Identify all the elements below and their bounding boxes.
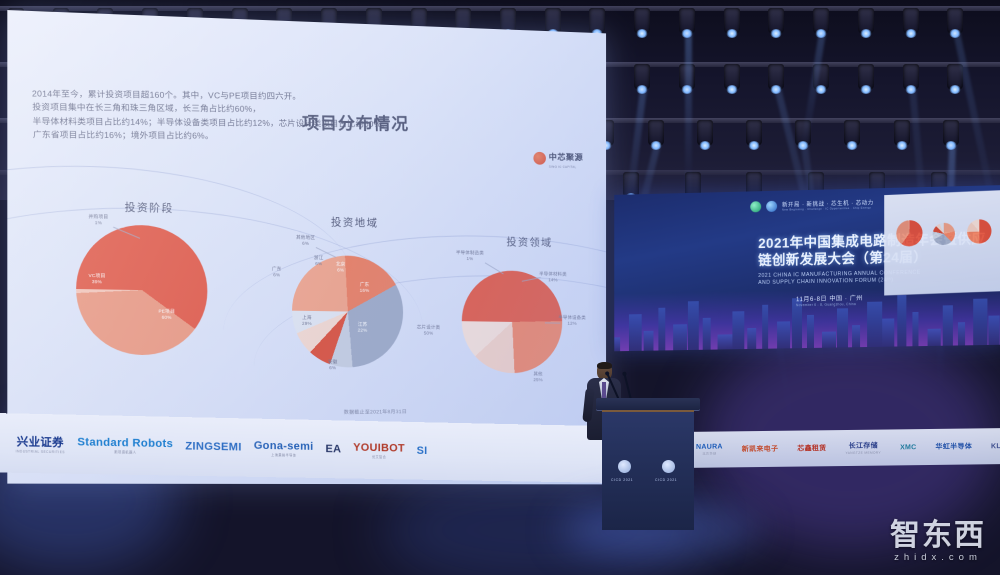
chart-3-label-top-left: 半导体制造类1%: [456, 250, 484, 262]
sponsor-logo-name: 新凯来电子: [742, 444, 779, 454]
chart-3-label-3: 半导体设备类12%: [558, 315, 585, 327]
sponsor-logo: ZINGSEMI: [185, 440, 241, 453]
podium-label-right: CICD 2021: [655, 478, 677, 482]
stage-scene: 2014年至今，累计投资项目超160个。其中，VC与PE项目约四六开。 投资项目…: [0, 0, 1000, 575]
sponsor-logo-name: EA: [325, 443, 341, 455]
sponsor-logo-sub: 北方华创: [702, 451, 716, 456]
led-building: [943, 305, 953, 345]
led-building: [673, 324, 687, 350]
sponsor-logo-band-right: NAURA北方华创新凯来电子芯鑫租赁长江存储YANGTZE MEMORYXMC华…: [690, 428, 1000, 468]
corp-logo-mark-icon: [533, 151, 546, 164]
stage-lamp: [648, 120, 664, 146]
stage-lamp: [813, 64, 829, 90]
sponsor-logo: SI: [417, 445, 428, 457]
stage-lamp: [589, 8, 605, 34]
sponsor-logo-name: 芯鑫租赁: [797, 443, 826, 453]
podium-emblem-left-icon: [618, 460, 631, 473]
projected-slide: 2014年至今，累计投资项目超160个。其中，VC与PE项目约四六开。 投资项目…: [7, 10, 606, 484]
stage-lamp: [679, 8, 695, 34]
podium-emblem-right-icon: [662, 460, 675, 473]
sponsor-logo-sub: 优艾智合: [372, 453, 386, 458]
led-mini-pie-2: [933, 222, 955, 245]
sponsor-logo-name: Standard Robots: [77, 436, 173, 450]
sponsor-logo: NAURA北方华创: [696, 443, 723, 455]
sponsor-logo: KL: [991, 443, 1000, 450]
zhidx-watermark: 智东西 zhidx.com: [890, 521, 986, 563]
sponsor-logo-sub: INDUSTRIAL SECURITIES: [16, 449, 65, 454]
led-taglines: 新开局 · 新挑战 · 芯生机 · 芯动力 New Beginning · Ch…: [750, 198, 874, 212]
podium-label-left: CICD 2021: [611, 478, 633, 482]
sponsor-logo: XMC: [900, 444, 916, 451]
chart-3-leader-0: [485, 262, 504, 274]
led-building: [658, 308, 665, 351]
led-building: [629, 314, 642, 351]
sponsor-logo: 兴业证券INDUSTRIAL SECURITIES: [16, 433, 65, 454]
led-building: [837, 308, 848, 347]
chart-2-label-0: 江苏22%: [358, 322, 368, 334]
sponsor-logo: 长江存储YANGTZE MEMORY: [845, 441, 881, 455]
led-building: [718, 334, 733, 349]
led-secondary-slide-panel: [884, 190, 1000, 295]
chart-2-label-4: 北京6%: [336, 261, 346, 273]
sponsor-logo: Gona-semi上海果纳半导体: [254, 439, 314, 457]
slide-data-note: 数据截止至2021年8月31日: [344, 408, 407, 416]
led-building: [988, 315, 999, 344]
sponsor-logo: Standard Robots斯坦德机器人: [77, 436, 173, 455]
stage-lamp: [634, 64, 650, 90]
led-building: [958, 322, 965, 345]
sino-ic-capital-logo: 中芯聚源 SINO IC CAPITAL: [533, 147, 583, 169]
stage-lamp: [724, 64, 740, 90]
sponsor-logo: YOUIBOT优艾智合: [353, 441, 405, 459]
stage-lamp: [947, 64, 963, 90]
led-building: [732, 311, 744, 349]
sponsor-logo-name: XMC: [900, 444, 916, 451]
led-badge-blue-icon: [766, 201, 777, 212]
stage-lamp: [903, 8, 919, 34]
stage-lamp: [844, 120, 860, 146]
chart-2-title: 投资地域: [250, 213, 458, 233]
led-mini-pie-3: [967, 219, 991, 244]
chart-3-title: 投资领域: [452, 233, 606, 251]
sponsor-logo-sub: 上海果纳半导体: [271, 452, 296, 457]
speaker-tie: [602, 382, 606, 398]
sponsor-logo-name: ZINGSEMI: [185, 440, 241, 453]
chart-2-label-1: 广东16%: [360, 282, 370, 294]
sponsor-logo: 芯鑫租赁: [797, 443, 826, 453]
led-mini-pie-1: [896, 220, 922, 247]
stage-lamp: [679, 64, 695, 90]
stage-lamp: [858, 64, 874, 90]
stage-lamp: [746, 120, 762, 146]
led-building: [822, 332, 836, 348]
sponsor-logo-name: KL: [991, 443, 1000, 450]
stage-lamp: [697, 120, 713, 146]
chart-investment-region: 投资地域 江苏22% 广东16% 上海29% 浙江6% 北京6%: [250, 213, 458, 385]
corp-logo-name: 中芯聚源: [549, 152, 584, 162]
led-building: [852, 325, 860, 347]
corp-logo-subtitle: SINO IC CAPITAL: [549, 165, 584, 169]
sponsor-logo-name: 兴业证券: [17, 433, 64, 450]
chart-1-label-2: 并购项目1%: [89, 214, 109, 227]
chart-investment-stage: 投资阶段 PE项目60% VC项目39% 并购项目1%: [51, 198, 246, 363]
chart-3-label-0: 芯片设计类50%: [417, 324, 440, 336]
watermark-url: zhidx.com: [890, 552, 986, 563]
sponsor-logo-name: YOUIBOT: [353, 441, 405, 454]
speaker-hair: [597, 362, 612, 369]
stage-lamp: [634, 8, 650, 34]
sponsor-logo: 新凯来电子: [742, 444, 779, 454]
podium-top-surface: [596, 398, 700, 410]
chart-3-label-1: 其他25%: [533, 371, 542, 383]
sponsor-logo-name: Gona-semi: [254, 439, 314, 452]
led-backdrop-screen: 新开局 · 新挑战 · 芯生机 · 芯动力 New Beginning · Ch…: [614, 185, 1000, 351]
stage-lamp: [795, 120, 811, 146]
led-badge-green-icon: [750, 201, 761, 212]
sponsor-logo-sub: 斯坦德机器人: [114, 449, 136, 454]
led-building: [867, 302, 882, 347]
led-building: [703, 318, 711, 350]
sponsor-logo: 华虹半导体: [936, 441, 973, 451]
chart-2-pie-wrap: 江苏22% 广东16% 上海29% 浙江6% 北京6% 安徽6%: [250, 232, 458, 385]
led-building: [807, 315, 814, 348]
chart-2-label-5: 安徽6%: [328, 359, 338, 371]
stage-lamp: [768, 8, 784, 34]
led-building: [912, 312, 918, 346]
led-building: [614, 337, 620, 351]
chart-3-pie-wrap: 芯片设计类50% 其他25% 半导体材料类14% 半导体设备类12% 半导体制造…: [452, 252, 606, 392]
led-building: [777, 321, 790, 348]
speaker-podium: CICD 2021 CICD 2021: [596, 398, 700, 530]
stage-lamp: [858, 8, 874, 34]
chart-1-pie-wrap: PE项目60% VC项目39% 并购项目1%: [51, 217, 246, 362]
sponsor-logo-sub: YANGTZE MEMORY: [845, 451, 881, 455]
led-building: [762, 305, 768, 349]
watermark-logo-text: 智东西: [890, 521, 986, 551]
chart-3-label-2: 半导体材料类14%: [539, 271, 567, 283]
chart-2-label-2: 上海29%: [302, 315, 312, 327]
chart-2-label-3: 浙江6%: [314, 255, 324, 267]
led-building: [928, 329, 941, 346]
chart-2-pie: [292, 255, 403, 368]
chart-investment-field: 投资领域 芯片设计类50% 其他25% 半导体材料类14% 半导体设备类12% …: [452, 233, 606, 392]
led-building: [897, 295, 906, 346]
chart-1-label-0: PE项目60%: [158, 309, 174, 321]
chart-2-label-6: 其他地区6%: [296, 235, 315, 247]
stage-lamp: [903, 64, 919, 90]
chart-1-pie: [76, 224, 207, 356]
led-building: [973, 299, 987, 346]
sponsor-logo-name: 长江存储: [849, 441, 878, 451]
stage-lamp: [768, 64, 784, 90]
slide-title: 项目分布情况: [302, 109, 409, 135]
chart-2-label-浙江: 广东6%: [272, 266, 282, 278]
stage-lamp: [813, 8, 829, 34]
stage-lamp: [724, 8, 740, 34]
chart-1-label-1: VC项目39%: [89, 273, 106, 286]
led-building: [747, 328, 756, 349]
led-building: [644, 331, 654, 351]
sponsor-logo-name: SI: [417, 445, 428, 457]
sponsor-logo: EA: [325, 443, 341, 455]
podium-front-panel: CICD 2021 CICD 2021: [602, 410, 694, 530]
sponsor-logo-name: 华虹半导体: [936, 441, 973, 451]
led-building: [882, 318, 894, 346]
stage-lamp: [943, 120, 959, 146]
led-building: [688, 301, 699, 350]
microphone-right: [624, 375, 632, 401]
stage-lamp: [894, 120, 910, 146]
stage-lamp: [947, 8, 963, 34]
